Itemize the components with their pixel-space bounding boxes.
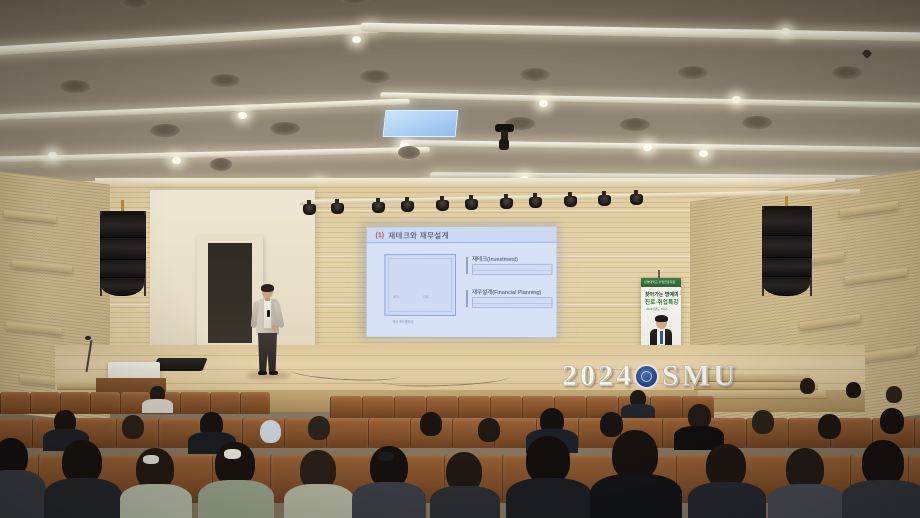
right-line-array-speaker xyxy=(762,196,812,308)
banner-headline-1: 찾아가는 명예의 길 xyxy=(645,291,681,298)
presenter-trousers xyxy=(258,333,277,373)
stage-plank-line xyxy=(55,355,865,356)
banner-header-bar: 상명대학교 취업진로지원 xyxy=(641,278,681,287)
ceiling-vent xyxy=(120,0,150,9)
ceiling-vent xyxy=(832,66,862,79)
ceiling-vent xyxy=(210,74,240,87)
letter-M: M xyxy=(682,362,710,389)
ceiling-vent xyxy=(398,146,420,159)
audience-shoulders xyxy=(44,478,122,518)
ceiling-light-strip xyxy=(0,98,410,121)
presenter-shoe-left xyxy=(258,371,267,375)
audience-head xyxy=(478,418,500,442)
ceiling-light-strip xyxy=(400,140,920,154)
auditorium-photo: (1) 재테크와 재무설계 투자 저축 자산 포트폴리오 재테크(Investm… xyxy=(0,0,920,518)
slide-image-placeholder: 투자 저축 xyxy=(384,254,456,316)
university-seal-icon xyxy=(634,364,659,389)
letter-U: U xyxy=(713,362,735,389)
ceiling xyxy=(0,0,920,205)
seat xyxy=(180,392,210,414)
stage-spotlight xyxy=(372,202,385,213)
seat xyxy=(368,418,410,448)
blue-ceiling-panel xyxy=(383,110,459,137)
handheld-microphone xyxy=(267,310,270,317)
speaker-cabinet xyxy=(100,278,144,296)
seat xyxy=(30,392,60,414)
audience-head xyxy=(752,410,774,434)
ceiling-spot-light xyxy=(732,96,741,103)
ceiling-vent xyxy=(360,70,390,83)
seat-row xyxy=(0,392,270,414)
microphone-head-icon xyxy=(85,336,91,340)
presenter xyxy=(250,285,284,377)
slide-section-field xyxy=(472,264,552,275)
seat xyxy=(0,392,30,414)
ceiling-vent xyxy=(678,66,708,79)
audience-head xyxy=(260,420,281,443)
letter-4: 4 xyxy=(616,362,631,389)
stage-spotlight xyxy=(500,198,513,209)
stage-dark-niche xyxy=(208,243,252,343)
speaker-cabinet xyxy=(762,277,810,296)
speaker-cabinet xyxy=(762,258,811,277)
audience-shoulders xyxy=(198,480,274,518)
slide-field-rule xyxy=(473,270,551,271)
seat-row xyxy=(330,396,714,418)
audience-shoulders xyxy=(621,404,655,419)
portrait-hair xyxy=(655,315,668,322)
stage-spotlight xyxy=(436,200,449,211)
podium-monitor xyxy=(152,358,207,371)
ceiling-spot-light xyxy=(539,100,548,107)
speaker-cabinet xyxy=(100,238,146,260)
stage-spotlight xyxy=(465,199,478,210)
slide-field-rule xyxy=(473,303,551,304)
stage-2024-smu-letters: 2 0 2 4 S M U xyxy=(562,361,735,389)
seat xyxy=(362,396,394,418)
stage-spotlight xyxy=(331,203,344,214)
slide-image-label-right: 저축 xyxy=(423,295,429,299)
portrait-tie xyxy=(660,331,663,344)
stage-spotlight xyxy=(401,201,414,212)
seat xyxy=(914,418,920,448)
seat xyxy=(90,392,120,414)
ceiling-spot-light xyxy=(352,36,361,43)
audience-shoulders xyxy=(506,478,592,518)
ceiling-light-strip xyxy=(0,24,380,58)
stage-spotlight xyxy=(630,194,643,205)
audience-head xyxy=(846,382,861,398)
seat xyxy=(330,396,362,418)
audience-shoulders xyxy=(688,482,766,518)
audience-head xyxy=(818,414,841,439)
stage-spotlight xyxy=(598,195,611,206)
banner-subtext: 2024학년도 2학기 xyxy=(646,307,667,311)
letter-2b: 2 xyxy=(598,362,613,389)
banner-top-text: 상명대학교 취업진로지원 xyxy=(644,280,675,284)
ceiling-vent xyxy=(150,124,180,137)
ceiling-spot-light xyxy=(643,144,652,151)
ceiling-light-strip xyxy=(360,23,920,43)
seat xyxy=(326,418,368,448)
letter-S: S xyxy=(662,362,679,389)
ceiling-vent xyxy=(520,68,550,81)
audience-hair-accessory xyxy=(143,455,159,464)
ceiling-light-strip xyxy=(380,92,920,110)
ceiling-vent xyxy=(620,118,650,131)
speaker-cabinet xyxy=(762,236,812,258)
left-line-array-speaker xyxy=(100,200,146,310)
ceiling-vent xyxy=(340,0,370,5)
audience-shoulders xyxy=(768,484,844,518)
slide-section-tick xyxy=(466,290,468,307)
letter-0: 0 xyxy=(580,362,595,389)
audience-shoulders xyxy=(352,482,426,518)
seat xyxy=(210,392,240,414)
audience-head xyxy=(122,415,144,439)
speaker-cabinet xyxy=(762,210,812,236)
projection-screen: (1) 재테크와 재무설계 투자 저축 자산 포트폴리오 재테크(Investm… xyxy=(367,227,557,338)
ceiling-spot-light xyxy=(699,150,708,157)
slide-image-inner-border xyxy=(388,258,452,312)
audience-shoulders xyxy=(142,399,173,413)
seat xyxy=(240,392,270,414)
audience-hair-accessory xyxy=(224,449,241,459)
slide-image-label-left: 투자 xyxy=(393,295,398,299)
ceiling-spot-light xyxy=(238,112,247,119)
banner-headline-2: 진로·취업특강 xyxy=(645,298,679,306)
audience-shoulders xyxy=(284,484,354,518)
speaker-cabinet xyxy=(100,215,146,238)
audience-head xyxy=(800,378,815,394)
ceiling-sprinkler-icon xyxy=(862,50,872,58)
presenter-hand-right xyxy=(272,325,277,330)
slide-section-tick xyxy=(466,257,468,274)
presentation-slide: (1) 재테크와 재무설계 투자 저축 자산 포트폴리오 재테크(Investm… xyxy=(367,227,557,338)
audience-head xyxy=(880,408,904,434)
speaker-cabinet xyxy=(100,260,145,278)
presenter-hair xyxy=(261,284,274,292)
audience-head xyxy=(420,412,442,436)
audience-shoulders xyxy=(842,480,920,518)
slide-image-caption: 자산 포트폴리오 xyxy=(392,319,413,324)
audience-head xyxy=(886,386,902,403)
slide-section-field xyxy=(472,297,552,308)
audience-shoulders xyxy=(430,486,500,518)
ceiling-spot-light xyxy=(172,157,181,164)
ceiling-vent xyxy=(270,122,300,135)
audience-head xyxy=(308,416,330,440)
ceiling-vent xyxy=(742,116,772,129)
projector-lens xyxy=(499,139,509,150)
ceiling-vent xyxy=(210,158,232,171)
slide-section-label: 재테크(Investment) xyxy=(472,255,518,263)
stage-spotlight xyxy=(564,196,577,207)
slide-section-label: 재무설계(Financial Planning) xyxy=(472,288,541,296)
slide-title: 재테크와 재무설계 xyxy=(388,230,449,241)
slide-bullet-icon: (1) xyxy=(376,232,383,239)
audience-head xyxy=(600,412,623,437)
ceiling-spot-light xyxy=(48,152,57,159)
seat xyxy=(490,396,522,418)
stage-spotlight xyxy=(529,197,542,208)
letter-2: 2 xyxy=(562,362,577,389)
audience-head xyxy=(612,430,658,480)
presenter-shoe-right xyxy=(269,371,278,375)
stage-spotlight xyxy=(303,204,316,215)
audience-shoulders xyxy=(0,470,46,518)
wall-cornice xyxy=(95,178,835,187)
audience-head xyxy=(526,436,570,484)
audience-shoulders xyxy=(590,474,682,518)
audience-hair-accessory xyxy=(378,452,394,461)
seat xyxy=(394,396,426,418)
ceiling-spot-light xyxy=(781,28,790,35)
ceiling-vent xyxy=(60,80,90,93)
seat xyxy=(458,396,490,418)
audience-shoulders xyxy=(120,484,192,518)
